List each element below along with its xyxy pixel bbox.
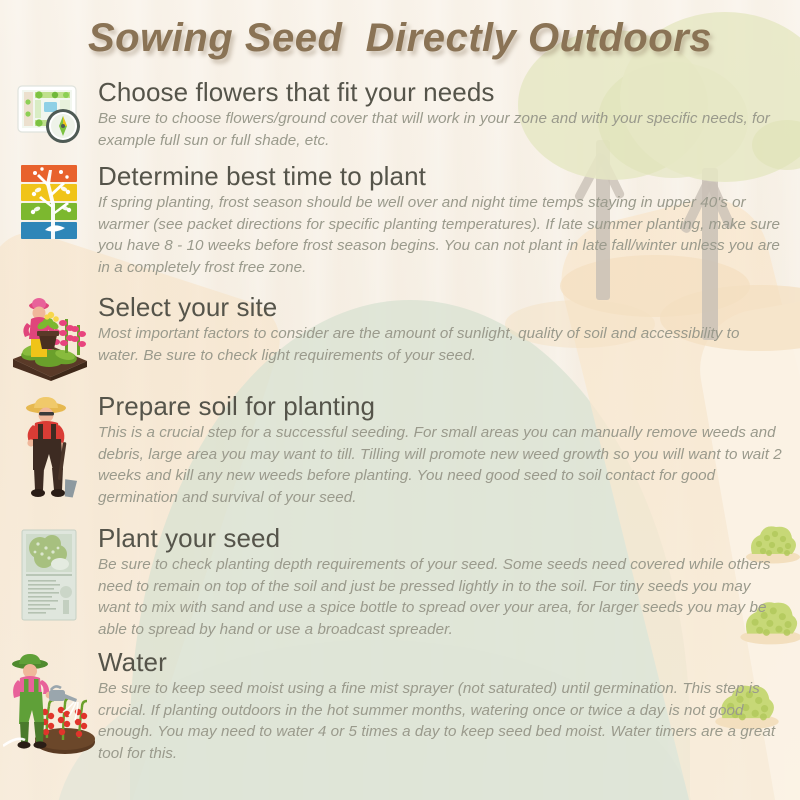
text-column: Determine best time to plant If spring p… [98,162,800,278]
section-body: Most important factors to consider are t… [98,323,782,366]
icon-column [0,524,98,624]
text-column: Prepare soil for planting This is a cruc… [98,392,800,508]
gardener-watering-can-icon [3,650,95,758]
icon-column [0,162,98,242]
section-heading: Prepare soil for planting [98,392,782,420]
icon-column [0,648,98,758]
section-determine-time: Determine best time to plant If spring p… [0,162,800,278]
gardener-shovel-digging-icon [13,394,85,502]
text-column: Water Be sure to keep seed moist using a… [98,648,800,764]
section-heading: Choose flowers that fit your needs [98,78,782,106]
section-body: This is a crucial step for a successful … [98,422,782,508]
text-column: Choose flowers that fit your needs Be su… [98,78,800,151]
section-heading: Select your site [98,293,782,321]
seed-packet-icon [16,526,82,624]
text-column: Plant your seed Be sure to check plantin… [98,524,800,640]
section-choose-flowers: Choose flowers that fit your needs Be su… [0,78,800,151]
section-select-site: Select your site Most important factors … [0,293,800,381]
icon-column [0,78,98,150]
section-plant-seed: Plant your seed Be sure to check plantin… [0,524,800,640]
poster-title: Sowing Seed Directly Outdoors [0,16,800,61]
infographic-poster: Sowing Seed Directly Outdoors [0,0,800,800]
gardener-flower-bed-icon [5,295,93,381]
section-heading: Water [98,648,782,676]
icon-column [0,392,98,502]
sections-list: Choose flowers that fit your needs Be su… [0,0,800,800]
section-heading: Plant your seed [98,524,782,552]
garden-plan-compass-icon [8,80,90,150]
section-heading: Determine best time to plant [98,162,782,190]
section-water: Water Be sure to keep seed moist using a… [0,648,800,764]
four-seasons-bars-icon [19,164,79,242]
section-prepare-soil: Prepare soil for planting This is a cruc… [0,392,800,508]
section-body: Be sure to check planting depth requirem… [98,554,782,640]
section-body: Be sure to keep seed moist using a fine … [98,678,782,764]
icon-column [0,293,98,381]
section-body: If spring planting, frost season should … [98,192,782,278]
section-body: Be sure to choose flowers/ground cover t… [98,108,782,151]
text-column: Select your site Most important factors … [98,293,800,366]
